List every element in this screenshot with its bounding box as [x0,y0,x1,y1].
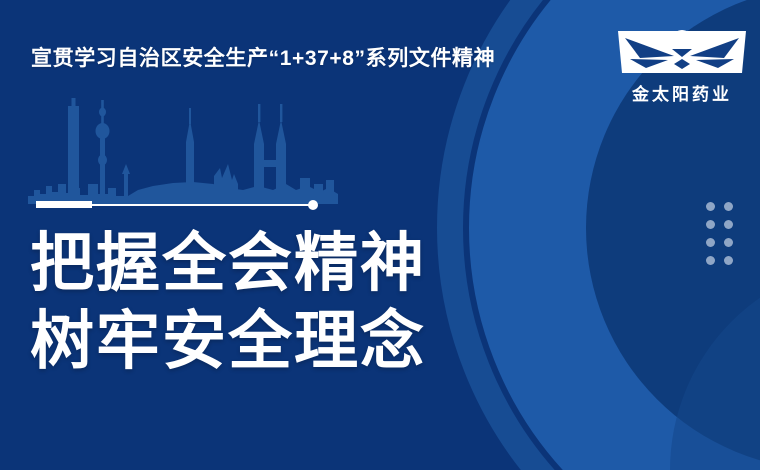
divider-thin-line [92,204,314,207]
corner-glow [670,260,760,470]
skyline-shape [28,98,338,204]
grid-dot [724,220,733,229]
headline-line-2: 树牢安全理念 [30,302,426,380]
grid-dot [706,238,715,247]
brand-name: 金太阳药业 [616,80,748,105]
page-title: 把握全会精神 树牢安全理念 [30,224,426,380]
golden-sun-wings-emblem-icon [616,29,748,75]
grid-dot [706,220,715,229]
grid-dot [724,202,733,211]
decorative-dot-grid [706,202,733,265]
safety-production-banner: 宣贯学习自治区安全生产“1+37+8”系列文件精神 把握全会精神 树牢安全理念 [0,0,760,470]
grid-dot [724,238,733,247]
brand-logo[interactable]: 金太阳药业 [616,29,748,104]
divider-end-dot [308,200,318,210]
grid-dot [706,256,715,265]
headline-divider [36,200,322,210]
eyebrow-text: 宣贯学习自治区安全生产“1+37+8”系列文件精神 [31,46,495,72]
grid-dot [724,256,733,265]
city-skyline-silhouette [28,98,338,204]
grid-dot [706,202,715,211]
divider-thick-bar [36,201,92,208]
headline-line-1: 把握全会精神 [30,224,426,302]
